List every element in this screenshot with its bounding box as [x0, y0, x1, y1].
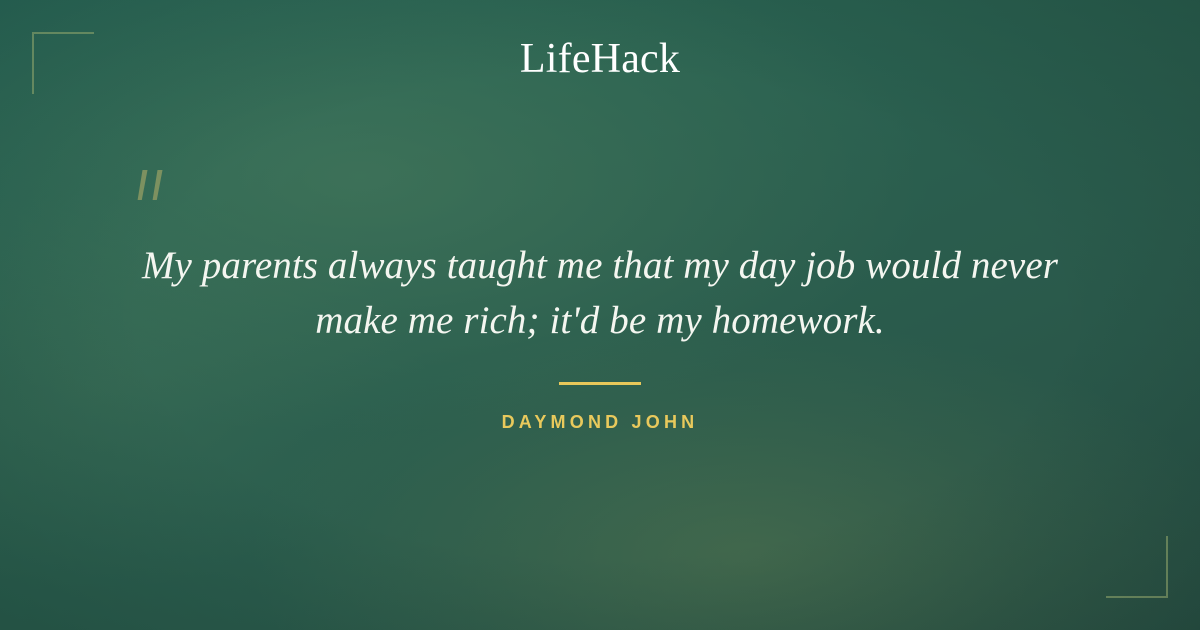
double-quote-icon [128, 168, 174, 218]
corner-bracket-bottom-right-icon [1106, 536, 1168, 598]
horizontal-rule-icon [559, 382, 641, 385]
quote-card: LifeHack My parents always taught me tha… [0, 0, 1200, 630]
divider-container [0, 382, 1200, 385]
brand-logo: LifeHack [0, 36, 1200, 82]
quote-block: My parents always taught me that my day … [90, 238, 1110, 348]
quote-line-2: make me rich; it'd be my homework. [90, 293, 1110, 348]
brand-logo-text: LifeHack [520, 36, 680, 82]
author-attribution: DAYMOND JOHN [0, 412, 1200, 433]
quote-line-1: My parents always taught me that my day … [90, 238, 1110, 293]
